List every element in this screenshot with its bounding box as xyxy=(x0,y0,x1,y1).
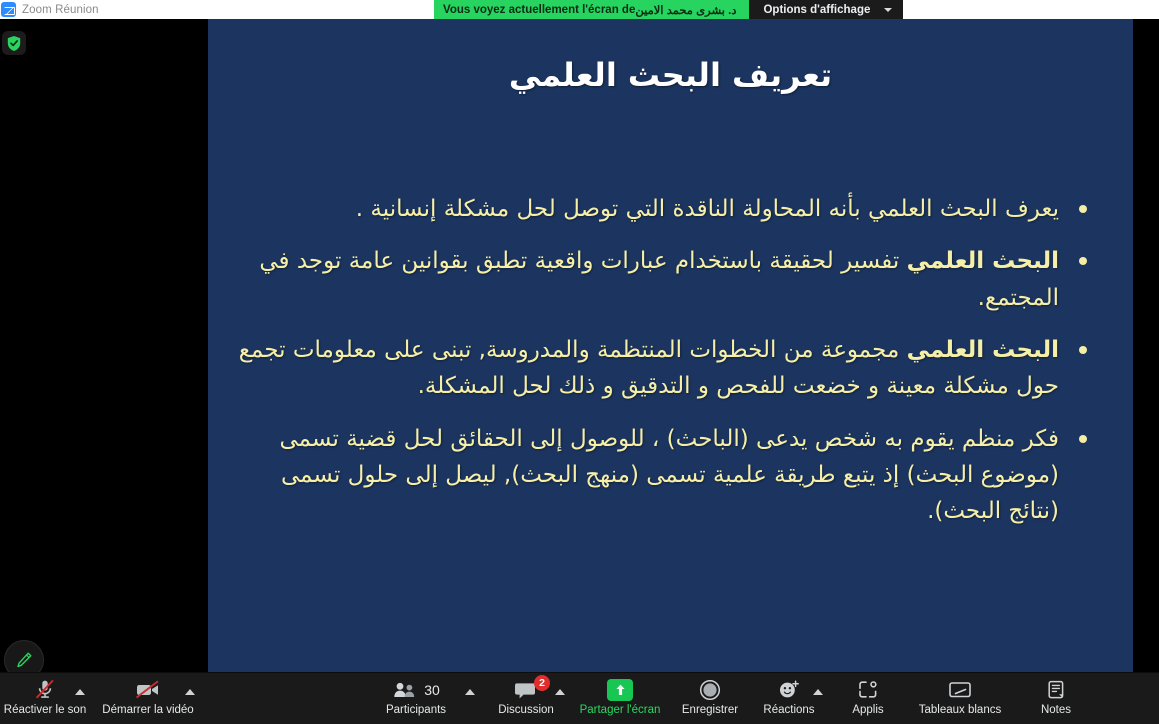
reactions-options-button[interactable] xyxy=(806,673,830,724)
left-rail xyxy=(0,19,208,672)
microphone-muted-icon xyxy=(33,678,57,701)
notes-label: Notes xyxy=(1041,704,1071,716)
screen-share-banner: Vous voyez actuellement l'écran de د. بش… xyxy=(434,0,903,19)
view-options-button[interactable]: Options d'affichage xyxy=(749,0,903,19)
participants-count: 30 xyxy=(424,682,440,698)
apps-button[interactable]: Applis xyxy=(836,673,900,724)
chat-label: Discussion xyxy=(498,704,554,716)
record-button[interactable]: Enregistrer xyxy=(672,673,748,724)
chat-options-button[interactable] xyxy=(548,673,572,724)
pencil-icon xyxy=(14,650,34,670)
share-screen-button[interactable]: Partager l'écran xyxy=(570,673,670,724)
caret-up-icon xyxy=(813,689,823,695)
list-item: البحث العلمي تفسير لحقيقة باستخدام عبارا… xyxy=(236,243,1103,316)
video-options-button[interactable] xyxy=(178,673,202,724)
participants-button[interactable]: 30 Participants xyxy=(380,673,452,724)
share-banner-message: Vous voyez actuellement l'écran de د. بش… xyxy=(434,0,749,19)
zoom-logo-icon xyxy=(1,2,16,17)
audio-options-button[interactable] xyxy=(68,673,92,724)
bullet-bold-lead: البحث العلمي xyxy=(907,337,1059,363)
whiteboard-icon xyxy=(947,678,973,701)
smiley-plus-icon xyxy=(777,678,801,701)
view-options-label: Options d'affichage xyxy=(763,4,870,16)
share-screen-label: Partager l'écran xyxy=(580,704,661,716)
participants-icon: 30 xyxy=(392,678,440,701)
apps-icon xyxy=(857,678,879,701)
bullet-text: فكر منظم يقوم به شخص يدعى (الباحث) ، للو… xyxy=(280,426,1059,525)
share-banner-text: Vous voyez actuellement l'écran de xyxy=(443,4,635,16)
record-label: Enregistrer xyxy=(682,704,738,716)
bullet-bold-lead: البحث العلمي xyxy=(907,248,1059,274)
shield-check-icon xyxy=(6,35,22,52)
meeting-toolbar: Réactiver le son Démarrer la vidéo xyxy=(0,672,1159,724)
bullet-text: يعرف البحث العلمي بأنه المحاولة الناقدة … xyxy=(356,196,1059,222)
share-screen-icon xyxy=(607,678,633,701)
caret-up-icon xyxy=(185,689,195,695)
whiteboards-label: Tableaux blancs xyxy=(919,704,1001,716)
caret-up-icon xyxy=(465,689,475,695)
zoom-meeting-window: Zoom Réunion Vous voyez actuellement l'é… xyxy=(0,0,1159,724)
apps-label: Applis xyxy=(852,704,883,716)
whiteboards-button[interactable]: Tableaux blancs xyxy=(904,673,1016,724)
slide-title: تعريف البحث العلمي xyxy=(208,56,1133,94)
list-item: فكر منظم يقوم به شخص يدعى (الباحث) ، للو… xyxy=(236,421,1103,530)
right-rail xyxy=(1133,19,1159,672)
camera-off-icon xyxy=(134,678,162,701)
security-badge[interactable] xyxy=(2,31,26,55)
caret-up-icon xyxy=(75,689,85,695)
shared-screen-slide: تعريف البحث العلمي يعرف البحث العلمي بأن… xyxy=(208,19,1133,672)
caret-up-icon xyxy=(555,689,565,695)
window-title: Zoom Réunion xyxy=(22,4,99,16)
notes-icon xyxy=(1046,678,1066,701)
chevron-down-icon xyxy=(884,8,892,12)
participants-options-button[interactable] xyxy=(458,673,482,724)
chat-bubble-icon: 2 xyxy=(514,678,538,701)
slide-bullet-list: يعرف البحث العلمي بأنه المحاولة الناقدة … xyxy=(236,191,1103,546)
share-banner-presenter: د. بشرى محمد الامين xyxy=(635,3,736,17)
list-item: يعرف البحث العلمي بأنه المحاولة الناقدة … xyxy=(236,191,1103,227)
record-circle-icon xyxy=(699,678,721,701)
participants-label: Participants xyxy=(386,704,446,716)
notes-button[interactable]: Notes xyxy=(1022,673,1090,724)
list-item: البحث العلمي مجموعة من الخطوات المنتظمة … xyxy=(236,332,1103,405)
